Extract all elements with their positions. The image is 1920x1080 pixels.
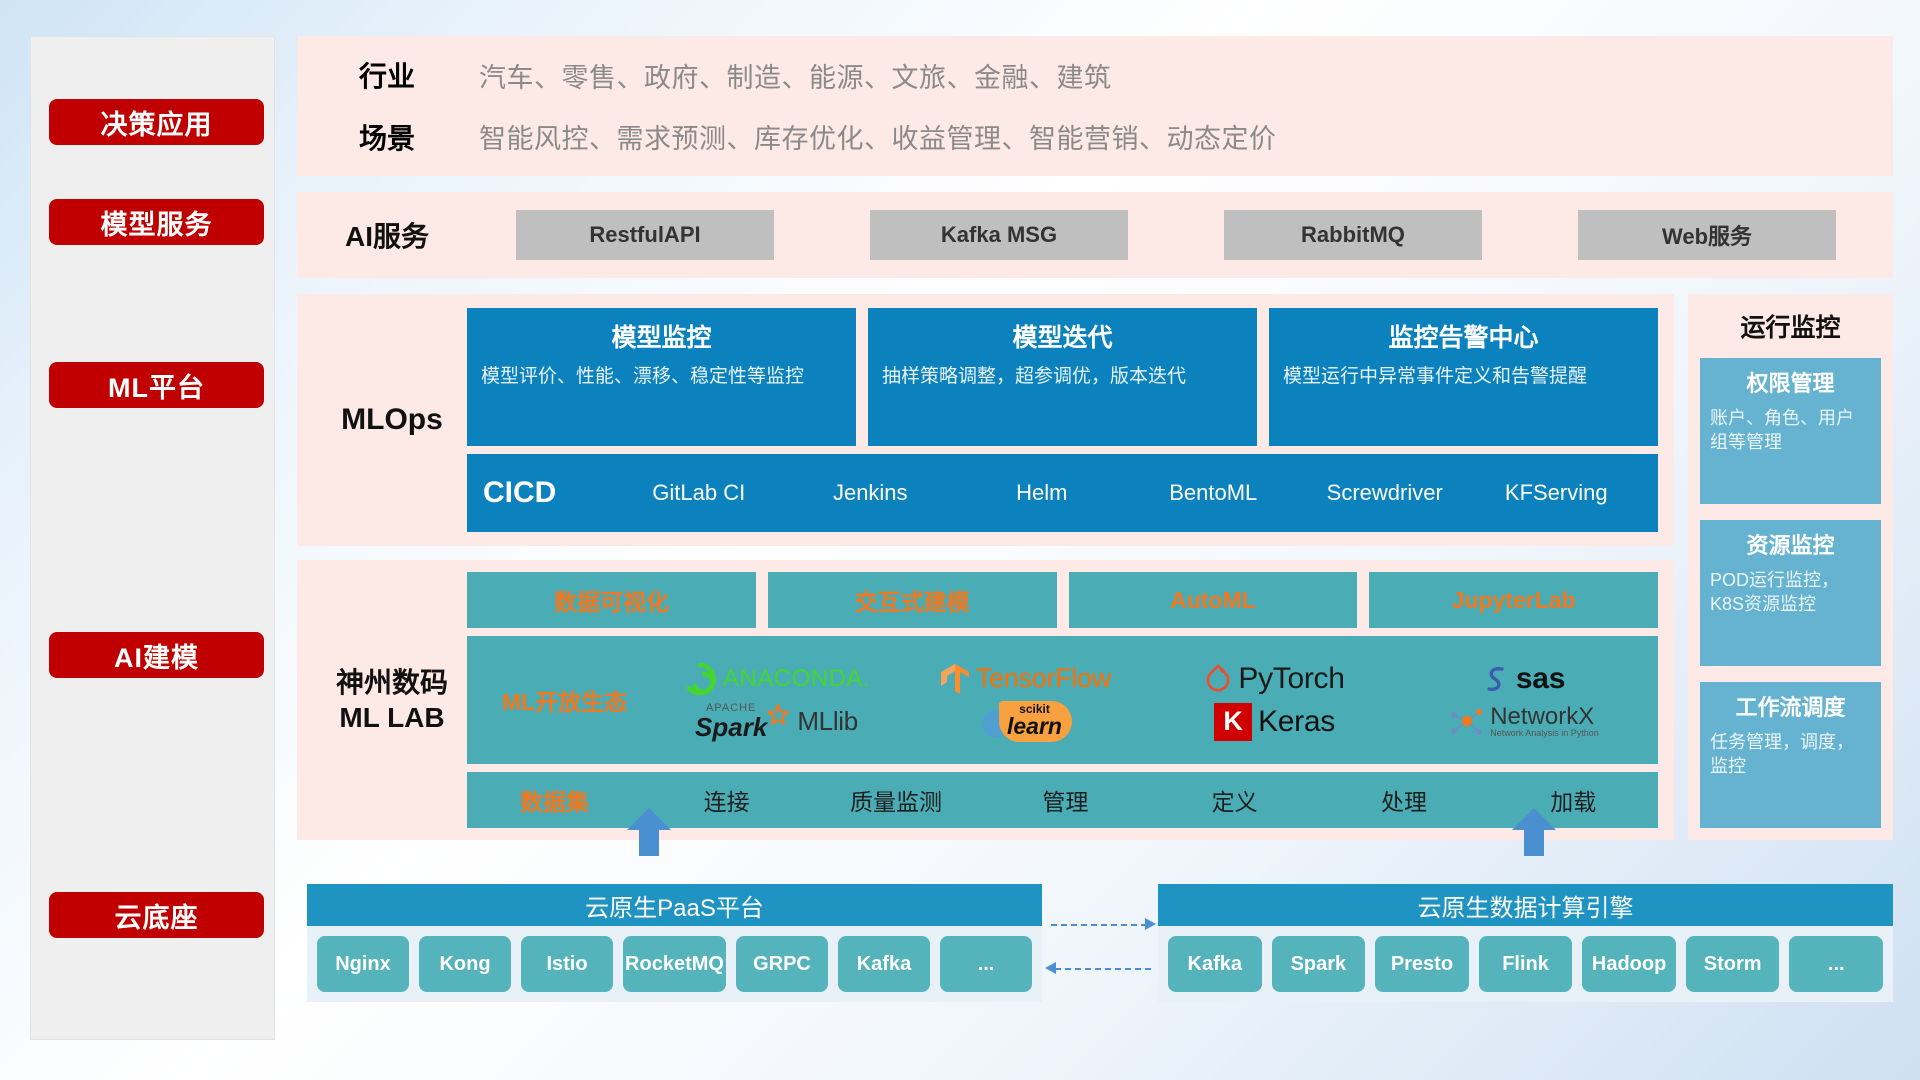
monitor-card-permission[interactable]: 权限管理 账户、角色、用户组等管理 [1700, 358, 1881, 504]
paas-chip-more[interactable]: ... [940, 936, 1032, 992]
engine-chip-storm[interactable]: Storm [1686, 936, 1780, 992]
tab-automl[interactable]: AutoML [1069, 572, 1358, 628]
anaconda-icon [683, 662, 717, 696]
mlops-label: MLOps [317, 403, 467, 437]
monitor-card-desc: 账户、角色、用户组等管理 [1710, 406, 1871, 455]
mlops-card-model-monitoring[interactable]: 模型监控 模型评价、性能、漂移、稳定性等监控 [467, 308, 856, 446]
sas-wordmark: sas [1516, 662, 1565, 696]
ml-ecosystem-title: ML开放生态 [477, 683, 652, 717]
rail-tag-model-service[interactable]: 模型服务 [49, 199, 264, 245]
cloud-paas-chips: Nginx Kong Istio RocketMQ GRPC Kafka ... [307, 926, 1042, 1002]
mid-section: MLOps 模型监控 模型评价、性能、漂移、稳定性等监控 模型迭代 抽样策略调整… [297, 294, 1893, 840]
industry-key-label: 行业 [317, 55, 457, 95]
mlops-card-title: 监控告警中心 [1283, 318, 1644, 354]
mlops-card-desc: 模型评价、性能、漂移、稳定性等监控 [481, 364, 842, 390]
cicd-item-bentoml[interactable]: BentoML [1128, 480, 1300, 505]
sas-icon [1482, 663, 1510, 695]
mlops-card-desc: 抽样策略调整，超参调优，版本迭代 [882, 364, 1243, 390]
engine-chip-presto[interactable]: Presto [1375, 936, 1469, 992]
spark-wordmark: Spark [695, 714, 767, 740]
dataset-item-define[interactable]: 定义 [1150, 783, 1319, 817]
cicd-item-jenkins[interactable]: Jenkins [785, 480, 957, 505]
mlops-card-title: 模型监控 [481, 318, 842, 354]
paas-chip-nginx[interactable]: Nginx [317, 936, 409, 992]
ml-ecosystem-row: ML开放生态 ANACONDA. [467, 636, 1658, 764]
cloud-paas-title: 云原生PaaS平台 [307, 884, 1042, 926]
ai-service-label: AI服务 [317, 215, 457, 255]
ml-lab-band: 神州数码 ML LAB 数据可视化 交互式建模 AutoML JupyterLa… [297, 560, 1674, 840]
spark-mllib-logo: APACHE Spark MLlib [695, 703, 858, 740]
industry-scenario-band: 行业 场景 汽车、零售、政府、制造、能源、文旅、金融、建筑 智能风控、需求预测、… [297, 36, 1893, 176]
pytorch-logo: PyTorch [1204, 662, 1344, 696]
learn-text: learn [1007, 715, 1062, 738]
engine-chip-hadoop[interactable]: Hadoop [1582, 936, 1676, 992]
ml-lab-tab-row: 数据可视化 交互式建模 AutoML JupyterLab [467, 572, 1658, 628]
cicd-item-kfserving[interactable]: KFServing [1471, 480, 1643, 505]
cloud-data-engine-chips: Kafka Spark Presto Flink Hadoop Storm ..… [1158, 926, 1893, 1002]
dataset-title: 数据集 [467, 783, 642, 817]
paas-chip-grpc[interactable]: GRPC [736, 936, 828, 992]
rail-tag-ml-platform[interactable]: ML平台 [49, 362, 264, 408]
keras-logo: K Keras [1214, 703, 1335, 741]
anaconda-wordmark: ANACONDA. [723, 665, 870, 693]
dashed-line-rightward [1051, 924, 1147, 926]
pytorch-icon [1204, 663, 1232, 695]
dataset-item-quality[interactable]: 质量监测 [811, 783, 980, 817]
cicd-bar: CICD GitLab CI Jenkins Helm BentoML Scre… [467, 454, 1658, 532]
up-arrow-paas-icon [627, 808, 671, 856]
cloud-data-engine-title: 云原生数据计算引擎 [1158, 884, 1893, 926]
networkx-tagline: Network Analysis in Python [1490, 729, 1599, 738]
arrowhead-right-icon [1145, 918, 1156, 930]
runtime-monitoring-title: 运行监控 [1700, 308, 1881, 344]
rail-tag-cloud-base[interactable]: 云底座 [49, 892, 264, 938]
monitor-card-desc: POD运行监控，K8S资源监控 [1710, 568, 1871, 617]
cloud-data-engine-block: 云原生数据计算引擎 Kafka Spark Presto Flink Hadoo… [1158, 884, 1893, 1002]
dashed-line-leftward [1055, 968, 1151, 970]
monitor-card-title: 工作流调度 [1710, 690, 1871, 722]
tensorflow-logo: TensorFlow [940, 662, 1111, 696]
cicd-item-helm[interactable]: Helm [956, 480, 1128, 505]
rail-tag-ai-modeling[interactable]: AI建模 [49, 632, 264, 678]
mid-left-column: MLOps 模型监控 模型评价、性能、漂移、稳定性等监控 模型迭代 抽样策略调整… [297, 294, 1674, 840]
monitor-card-title: 资源监控 [1710, 528, 1871, 560]
scenario-key-label: 场景 [317, 117, 457, 157]
cicd-item-gitlab-ci[interactable]: GitLab CI [613, 480, 785, 505]
tab-jupyterlab[interactable]: JupyterLab [1369, 572, 1658, 628]
networkx-icon [1448, 705, 1484, 739]
monitor-card-workflow[interactable]: 工作流调度 任务管理，调度，监控 [1700, 682, 1881, 828]
dataset-item-manage[interactable]: 管理 [981, 783, 1150, 817]
layer-rail: 决策应用 模型服务 ML平台 AI建模 云底座 [30, 36, 275, 1040]
engine-chip-more[interactable]: ... [1789, 936, 1883, 992]
mlops-band: MLOps 模型监控 模型评价、性能、漂移、稳定性等监控 模型迭代 抽样策略调整… [297, 294, 1674, 546]
mllib-wordmark: MLlib [797, 706, 858, 737]
scikit-orange-blob: scikit learn [999, 701, 1072, 742]
mlops-card-desc: 模型运行中异常事件定义和告警提醒 [1283, 364, 1644, 390]
ml-lab-body: 数据可视化 交互式建模 AutoML JupyterLab ML开放生态 [467, 572, 1658, 828]
dataset-item-process[interactable]: 处理 [1319, 783, 1488, 817]
monitor-card-title: 权限管理 [1710, 366, 1871, 398]
keras-mark-icon: K [1214, 703, 1252, 741]
engine-chip-kafka[interactable]: Kafka [1168, 936, 1262, 992]
scikit-learn-logo: scikit learn [979, 701, 1072, 742]
monitor-card-desc: 任务管理，调度，监控 [1710, 730, 1871, 779]
engine-chip-spark[interactable]: Spark [1272, 936, 1366, 992]
keras-wordmark: Keras [1258, 705, 1335, 739]
service-chip-rabbitmq[interactable]: RabbitMQ [1224, 210, 1482, 260]
arrowhead-left-icon [1045, 962, 1056, 974]
monitor-card-resource[interactable]: 资源监控 POD运行监控，K8S资源监控 [1700, 520, 1881, 666]
spark-star-icon [767, 704, 789, 726]
service-chip-restful-api[interactable]: RestfulAPI [516, 210, 774, 260]
cloud-paas-block: 云原生PaaS平台 Nginx Kong Istio RocketMQ GRPC… [307, 884, 1042, 1002]
tab-interactive-modeling[interactable]: 交互式建模 [768, 572, 1057, 628]
mlops-card-title: 模型迭代 [882, 318, 1243, 354]
keras-k-letter: K [1223, 706, 1243, 737]
networkx-wordmark: NetworkX [1490, 704, 1599, 729]
pytorch-wordmark: PyTorch [1238, 662, 1344, 696]
service-chip-kafka-msg[interactable]: Kafka MSG [870, 210, 1128, 260]
ml-lab-label: 神州数码 ML LAB [317, 665, 467, 735]
up-arrow-data-engine-icon [1512, 808, 1556, 856]
paas-chip-istio[interactable]: Istio [521, 936, 613, 992]
spark-mark: APACHE Spark [695, 703, 767, 740]
ml-lab-label-line2: ML LAB [317, 700, 467, 735]
cloud-link-arrows [1045, 916, 1157, 988]
content-column: 行业 场景 汽车、零售、政府、制造、能源、文旅、金融、建筑 智能风控、需求预测、… [297, 36, 1893, 1040]
paas-chip-kong[interactable]: Kong [419, 936, 511, 992]
mlops-card-alert-center[interactable]: 监控告警中心 模型运行中异常事件定义和告警提醒 [1269, 308, 1658, 446]
paas-chip-rocketmq[interactable]: RocketMQ [623, 936, 726, 992]
ml-ecosystem-logos: ANACONDA. TensorFlow [652, 658, 1648, 742]
industry-values: 汽车、零售、政府、制造、能源、文旅、金融、建筑 智能风控、需求预测、库存优化、收… [457, 56, 1879, 156]
cicd-title: CICD [483, 476, 613, 510]
engine-chip-flink[interactable]: Flink [1479, 936, 1573, 992]
rail-tag-decision-app[interactable]: 决策应用 [49, 99, 264, 145]
ai-service-chips: RestfulAPI Kafka MSG RabbitMQ Web服务 [457, 210, 1875, 260]
mlops-card-row: 模型监控 模型评价、性能、漂移、稳定性等监控 模型迭代 抽样策略调整，超参调优，… [467, 308, 1658, 446]
networkx-wordmark-block: NetworkX Network Analysis in Python [1490, 704, 1599, 739]
service-chip-web-service[interactable]: Web服务 [1578, 210, 1836, 260]
dataset-items: 连接 质量监测 管理 定义 处理 加载 [642, 783, 1658, 817]
networkx-logo: NetworkX Network Analysis in Python [1448, 704, 1599, 739]
sas-logo: sas [1482, 662, 1565, 696]
tensorflow-icon [940, 662, 970, 696]
ai-service-band: AI服务 RestfulAPI Kafka MSG RabbitMQ Web服务 [297, 192, 1893, 278]
paas-chip-kafka[interactable]: Kafka [838, 936, 930, 992]
ml-lab-label-line1: 神州数码 [317, 665, 467, 700]
runtime-monitoring-column: 运行监控 权限管理 账户、角色、用户组等管理 资源监控 POD运行监控，K8S资… [1688, 294, 1893, 840]
scenario-list: 智能风控、需求预测、库存优化、收益管理、智能营销、动态定价 [479, 117, 1879, 156]
architecture-diagram: 决策应用 模型服务 ML平台 AI建模 云底座 行业 场景 汽车、零售、政府、制… [0, 0, 1920, 1080]
industry-list: 汽车、零售、政府、制造、能源、文旅、金融、建筑 [479, 56, 1879, 95]
mlops-body: 模型监控 模型评价、性能、漂移、稳定性等监控 模型迭代 抽样策略调整，超参调优，… [467, 308, 1658, 532]
cicd-items: GitLab CI Jenkins Helm BentoML Screwdriv… [613, 480, 1642, 505]
tensorflow-wordmark: TensorFlow [976, 663, 1111, 694]
cicd-item-screwdriver[interactable]: Screwdriver [1299, 480, 1471, 505]
tab-data-visualization[interactable]: 数据可视化 [467, 572, 756, 628]
mlops-card-model-iteration[interactable]: 模型迭代 抽样策略调整，超参调优，版本迭代 [868, 308, 1257, 446]
industry-keys: 行业 场景 [317, 55, 457, 157]
cloud-base-zone: 云原生PaaS平台 Nginx Kong Istio RocketMQ GRPC… [297, 854, 1893, 1002]
anaconda-logo: ANACONDA. [683, 662, 870, 696]
